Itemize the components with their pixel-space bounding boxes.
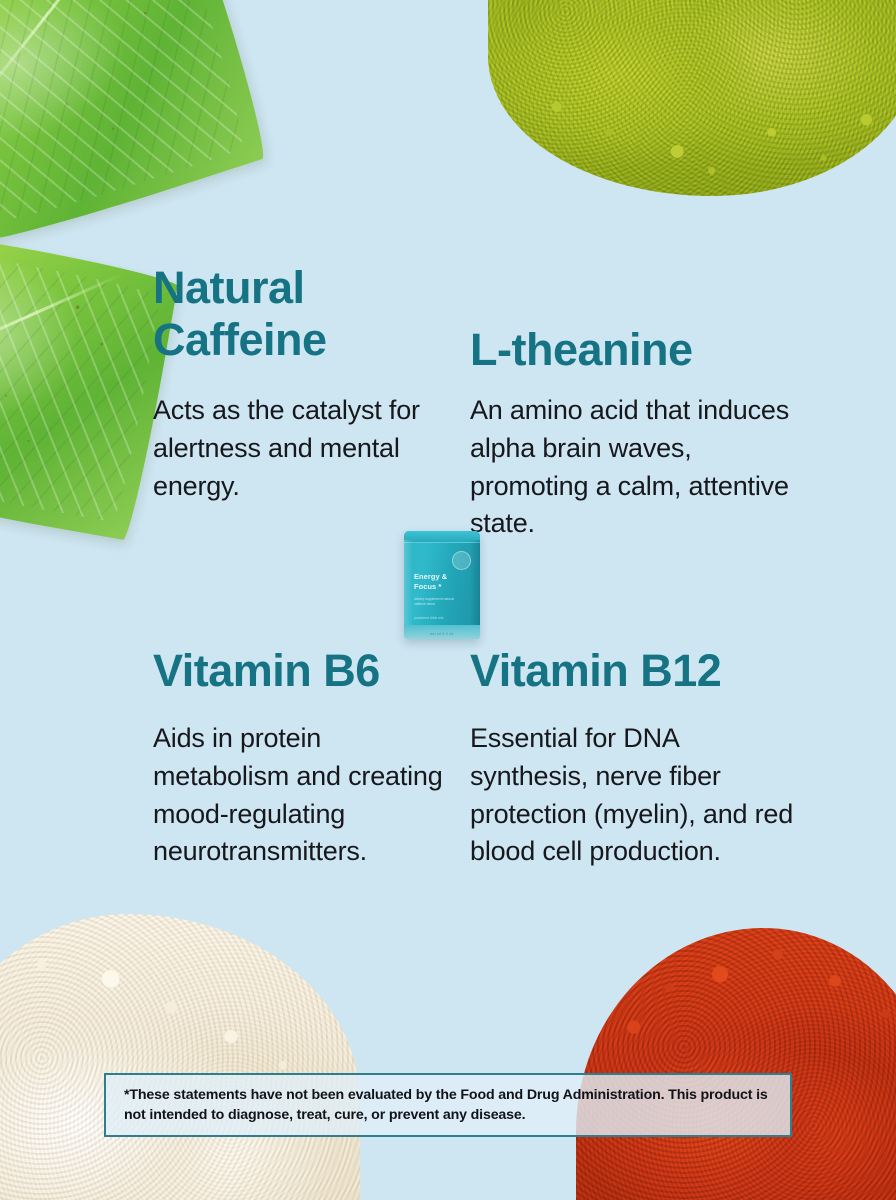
ingredient-description-vitamin-b12: Essential for DNA synthesis, nerve fiber…: [470, 720, 800, 871]
ingredient-heading-vitamin-b6: Vitamin B6: [153, 645, 463, 697]
ingredient-heading-vitamin-b12: Vitamin B12: [470, 645, 800, 697]
pouch-right-gusset: [470, 540, 480, 627]
product-pouch-image: Energy & Focus * dietary supplement natu…: [404, 531, 480, 639]
ingredient-description-natural-caffeine: Acts as the catalyst for alertness and m…: [153, 392, 453, 505]
pouch-top-seal: [404, 531, 480, 543]
pouch-left-gusset: [404, 540, 413, 627]
content-area: Natural Caffeine Acts as the catalyst fo…: [0, 0, 896, 1200]
ingredient-heading-natural-caffeine: Natural Caffeine: [153, 262, 463, 366]
ingredient-description-l-theanine: An amino acid that induces alpha brain w…: [470, 392, 800, 543]
pouch-subtitle: dietary supplement natural caffeine blen…: [414, 597, 464, 608]
ingredient-heading-l-theanine: L-theanine: [470, 324, 800, 376]
fda-disclaimer-text: *These statements have not been evaluate…: [106, 1085, 790, 1125]
ingredient-description-vitamin-b6: Aids in protein metabolism and creating …: [153, 720, 453, 871]
ingredient-benefits-page: Natural Caffeine Acts as the catalyst fo…: [0, 0, 896, 1200]
pouch-title: Energy & Focus *: [414, 572, 466, 591]
pouch-footer-text: powdered drink mix: [414, 616, 466, 620]
pouch-badge-icon: [452, 551, 471, 570]
fda-disclaimer-box: *These statements have not been evaluate…: [104, 1073, 792, 1137]
pouch-brand-text: net wt 4.2 oz: [404, 632, 480, 636]
